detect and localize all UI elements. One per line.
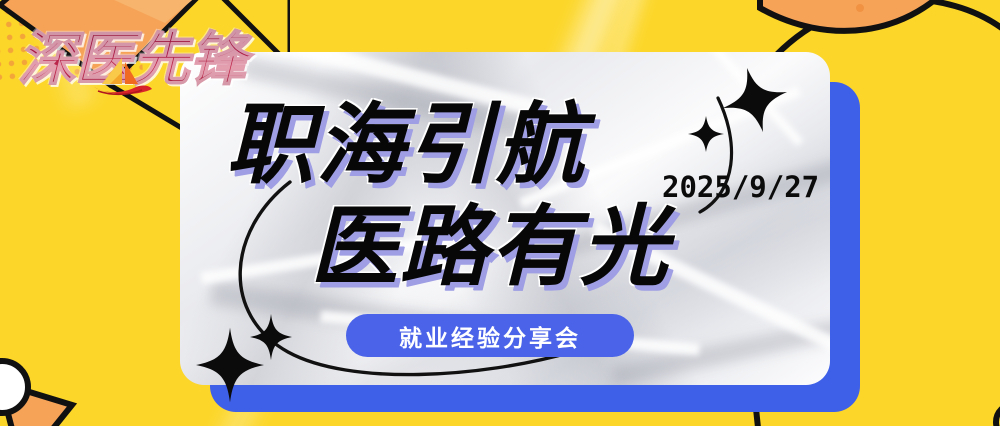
subtitle-pill[interactable]: 就业经验分享会 [346, 314, 634, 357]
promo-banner: 深医先锋 职海引航 医路有光 2025/9/27 就业经验分享会 [0, 0, 1000, 426]
subtitle-label: 就业经验分享会 [399, 319, 581, 353]
headline-line-2: 医路有光 [310, 176, 670, 303]
headline-block: 职海引航 医路有光 2025/9/27 就业经验分享会 [180, 52, 830, 385]
sailboat-icon [92, 56, 154, 96]
event-date: 2025/9/27 [662, 170, 819, 204]
